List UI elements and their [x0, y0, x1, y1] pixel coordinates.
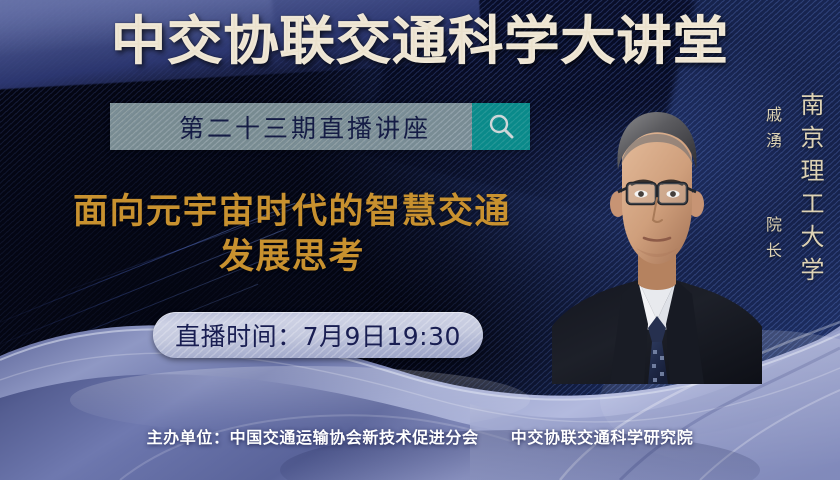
organizer-primary: 主办单位：中国交通运输协会新技术促进分会	[147, 428, 479, 447]
session-search-bar[interactable]: 第二十三期直播讲座	[110, 103, 530, 150]
search-button[interactable]	[472, 103, 530, 150]
footer-organizers: 主办单位：中国交通运输协会新技术促进分会 中交协联交通科学研究院	[0, 424, 840, 448]
speaker-organization: 南京理工大学	[793, 92, 828, 290]
lecture-title-line1: 面向元宇宙时代的智慧交通	[73, 192, 511, 232]
organizer-secondary: 中交协联交通科学研究院	[511, 428, 694, 447]
speaker-portrait	[552, 84, 762, 384]
search-input[interactable]: 第二十三期直播讲座	[110, 103, 472, 150]
poster-canvas: 中交协联交通科学大讲堂 第二十三期直播讲座 面向元宇宙时代的智慧交通 发展思考 …	[0, 0, 840, 480]
speaker-name-title: 戚湧 院长	[760, 106, 784, 268]
lecture-title: 面向元宇宙时代的智慧交通 发展思考	[32, 190, 552, 280]
lecture-title-line2: 发展思考	[32, 235, 552, 280]
broadcast-time-badge: 直播时间：7月9日19:30	[153, 312, 483, 358]
session-label: 第二十三期直播讲座	[151, 109, 431, 145]
page-title: 中交协联交通科学大讲堂	[0, 16, 840, 68]
broadcast-time-text: 直播时间：7月9日19:30	[175, 317, 461, 353]
search-icon	[486, 112, 516, 142]
